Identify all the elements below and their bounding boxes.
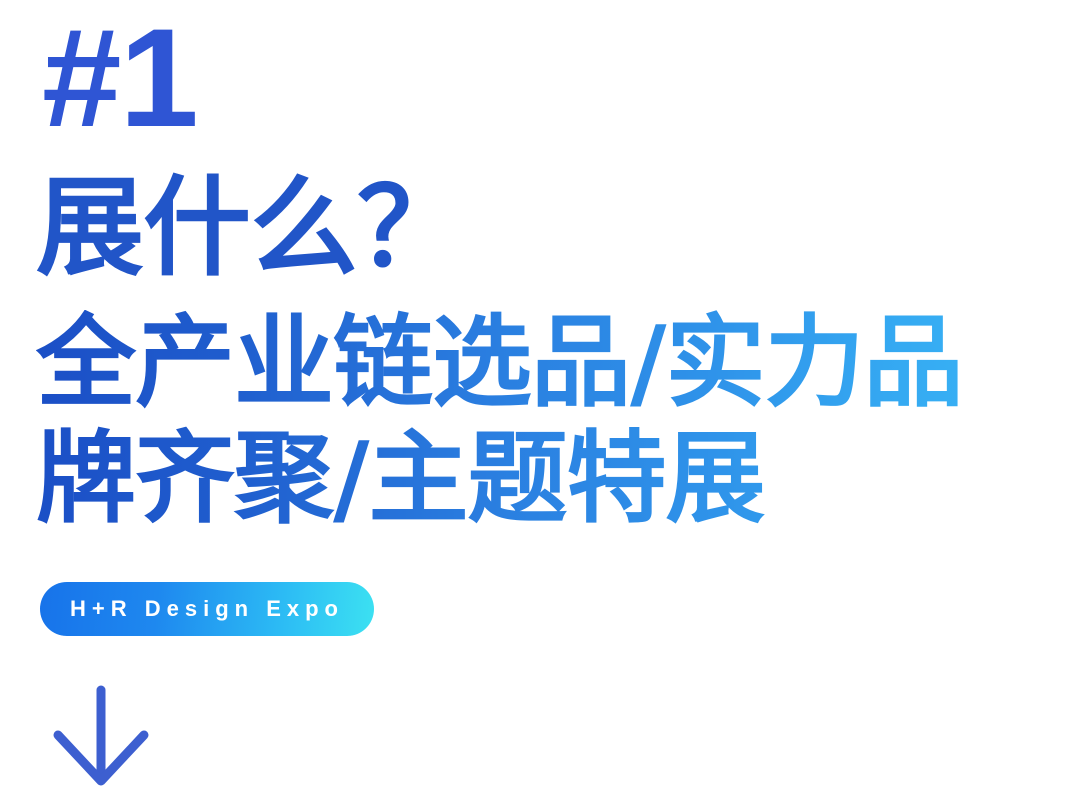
headline-line-1: 展什么？ [36, 172, 1046, 286]
brand-badge-pill[interactable]: H+R Design Expo [40, 582, 374, 636]
headline-block: 展什么？ 全产业链选品/实力品 牌齐聚/主题特展 [36, 172, 1046, 532]
rank-marker: #1 [42, 8, 197, 148]
brand-badge-label: H+R Design Expo [70, 598, 344, 620]
arrow-down-glyph [48, 682, 168, 790]
poster-canvas: #1 展什么？ 全产业链选品/实力品 牌齐聚/主题特展 H+R Design E… [0, 0, 1080, 794]
headline-line-3: 牌齐聚/主题特展 [36, 426, 1046, 532]
arrow-down-icon[interactable] [48, 682, 168, 790]
headline-line-2: 全产业链选品/实力品 [36, 310, 1046, 416]
